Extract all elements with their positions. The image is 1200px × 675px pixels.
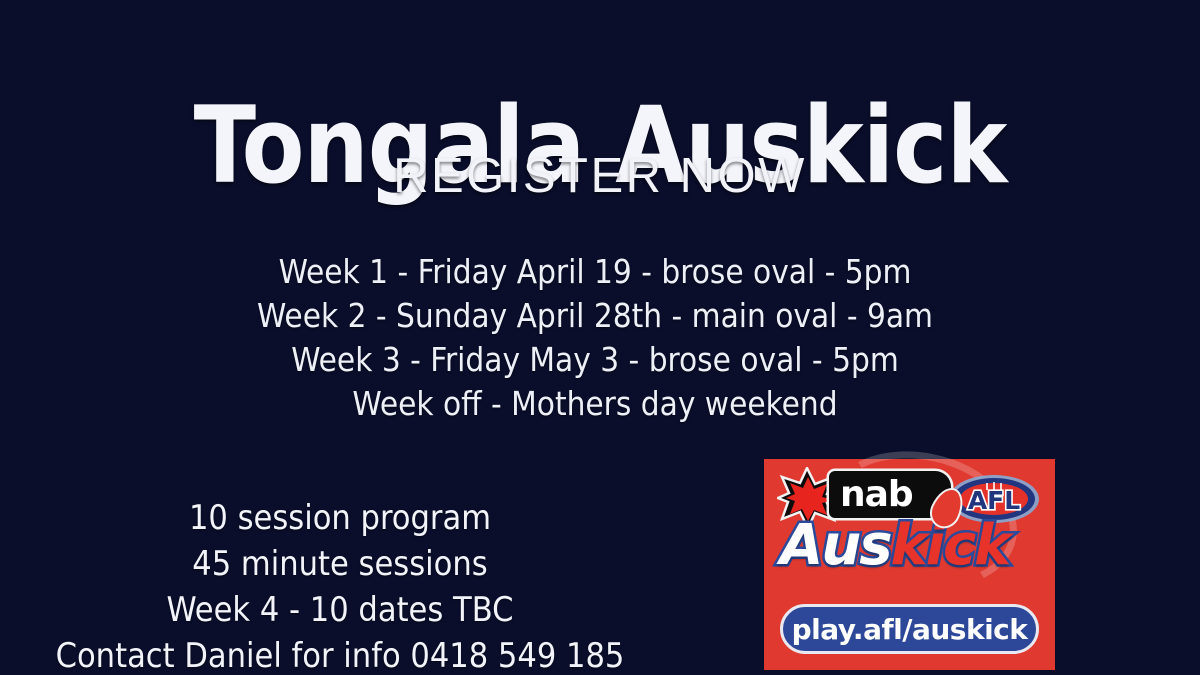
auskick-wordmark: Auskick [780,515,1042,577]
program-details-list: 10 session program 45 minute sessions We… [40,495,640,675]
auskick-aus-text: Aus [780,513,891,578]
auskick-registration-poster: Tongala Auskick REGISTER NOW Week 1 - Fr… [0,0,1200,675]
nab-wordmark-text: nab [840,473,913,517]
detail-line: Contact Daniel for info 0418 549 185 [40,633,640,675]
auskick-url-text: play.afl/auskick [792,613,1028,646]
schedule-line: Week 1 - Friday April 19 - brose oval - … [0,250,1190,294]
nab-afl-auskick-logo: nab AFL Auskick play.afl/auskick [764,459,1055,670]
session-schedule-list: Week 1 - Friday April 19 - brose oval - … [0,250,1190,426]
detail-line: 45 minute sessions [40,541,640,587]
detail-line: 10 session program [40,495,640,541]
schedule-line: Week 2 - Sunday April 28th - main oval -… [0,294,1190,338]
schedule-line: Week 3 - Friday May 3 - brose oval - 5pm [0,338,1190,382]
schedule-line: Week off - Mothers day weekend [0,382,1190,426]
detail-line: Week 4 - 10 dates TBC [40,587,640,633]
afl-badge-text: AFL [968,486,1020,515]
subtitle-register-now: REGISTER NOW [0,148,1200,204]
auskick-url-button[interactable]: play.afl/auskick [780,604,1039,654]
